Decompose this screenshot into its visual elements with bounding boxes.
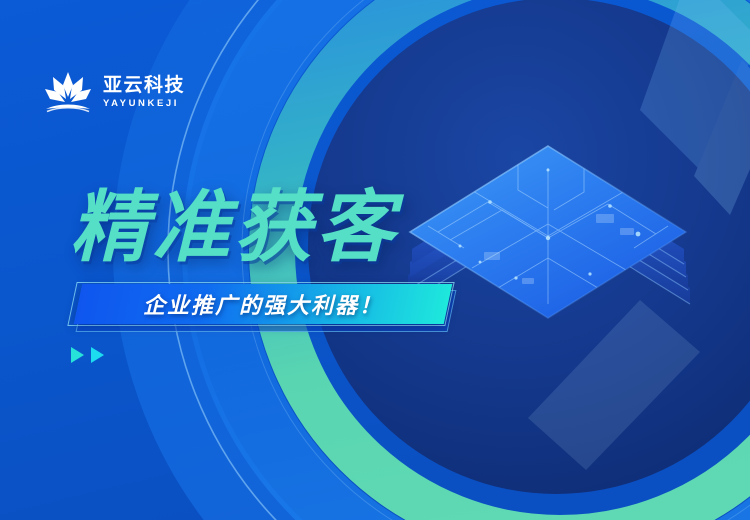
play-arrow-icon bbox=[91, 347, 104, 363]
brand-wordmark: 亚云科技 YAYUNKEJI bbox=[103, 75, 185, 110]
headline-title: 精准获客 bbox=[70, 183, 398, 271]
brand-name-en: YAYUNKEJI bbox=[103, 98, 185, 110]
play-arrow-icon bbox=[71, 347, 84, 363]
promo-banner: 亚云科技 YAYUNKEJI 精准获客 企业推广的强大利器！ bbox=[0, 0, 750, 520]
brand-logo[interactable]: 亚云科技 YAYUNKEJI bbox=[42, 68, 185, 116]
arrow-marker-group bbox=[71, 347, 104, 363]
brand-name-cn: 亚云科技 bbox=[103, 75, 185, 96]
lotus-petal-mark-icon bbox=[42, 68, 94, 116]
subtitle-ribbon: 企业推广的强大利器！ bbox=[66, 280, 458, 336]
subtitle-text: 企业推广的强大利器！ bbox=[66, 284, 460, 324]
